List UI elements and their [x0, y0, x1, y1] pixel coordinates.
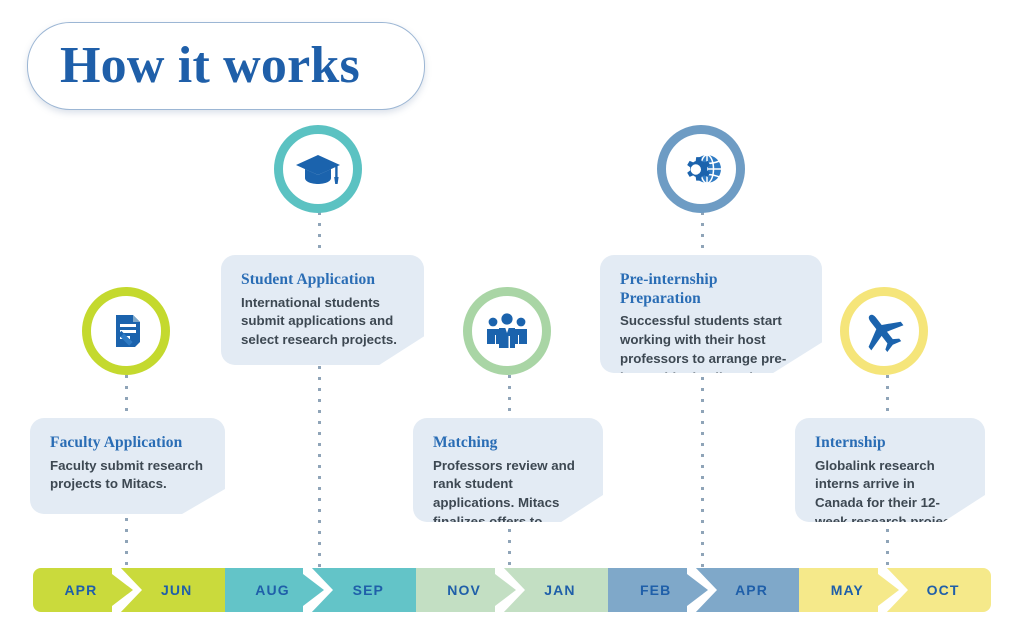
timeline-month-segment[interactable]: OCT — [895, 568, 991, 612]
page-title: How it works — [28, 40, 360, 92]
timeline-block: AUGSEP — [225, 568, 417, 612]
graduation-cap-icon — [294, 147, 342, 191]
timeline-month-segment[interactable]: FEB — [608, 568, 704, 612]
timeline-month-segment[interactable]: JAN — [512, 568, 608, 612]
step-card-faculty-application: Faculty Application Faculty submit resea… — [30, 418, 225, 514]
step-body: Faculty submit research projects to Mita… — [50, 457, 205, 495]
timeline-month-label: MAY — [831, 582, 864, 598]
timeline-month-label: APR — [735, 582, 768, 598]
timeline-month-label: NOV — [447, 582, 481, 598]
timeline-bar: APRJUNAUGSEPNOVJANFEBAPRMAYOCT — [33, 568, 991, 612]
step-body: Globalink research interns arrive in Can… — [815, 457, 965, 533]
step-title: Pre-internship Preparation — [620, 271, 802, 308]
timeline-month-label: OCT — [927, 582, 960, 598]
step-body: Successful students start working with t… — [620, 312, 802, 406]
gear-globe-icon — [677, 147, 725, 191]
page-title-box: How it works — [27, 22, 425, 110]
step-body: International students submit applicatio… — [241, 294, 404, 351]
step-card-pre-internship-preparation: Pre-internship Preparation Successful st… — [600, 255, 822, 373]
step-card-internship: Internship Globalink research interns ar… — [795, 418, 985, 522]
step-card-student-application: Student Application International studen… — [221, 255, 424, 365]
infographic-canvas: How it works Faculty Application Faculty… — [0, 0, 1024, 633]
timeline-month-segment[interactable]: MAY — [799, 568, 895, 612]
step-icon-internship — [840, 287, 928, 375]
step-icon-pre-internship-preparation — [657, 125, 745, 213]
step-icon-student-application — [274, 125, 362, 213]
step-title: Faculty Application — [50, 434, 205, 453]
timeline-block: MAYOCT — [799, 568, 991, 612]
timeline-month-label: AUG — [255, 582, 289, 598]
timeline-block: FEBAPR — [608, 568, 800, 612]
timeline-block: NOVJAN — [416, 568, 608, 612]
timeline-block: APRJUN — [33, 568, 225, 612]
document-pen-icon — [104, 309, 148, 353]
step-title: Internship — [815, 434, 965, 453]
airplane-icon — [860, 308, 908, 354]
timeline-month-segment[interactable]: APR — [704, 568, 800, 612]
step-icon-matching — [463, 287, 551, 375]
timeline-month-segment[interactable]: AUG — [225, 568, 321, 612]
timeline-month-label: JUN — [161, 582, 192, 598]
timeline-month-segment[interactable]: SEP — [320, 568, 416, 612]
people-group-icon — [484, 309, 530, 353]
step-title: Student Application — [241, 271, 404, 290]
timeline-month-segment[interactable]: APR — [33, 568, 129, 612]
timeline-month-label: SEP — [353, 582, 384, 598]
timeline-month-label: FEB — [640, 582, 671, 598]
timeline-month-label: APR — [64, 582, 97, 598]
timeline-month-label: JAN — [544, 582, 575, 598]
timeline-month-segment[interactable]: JUN — [129, 568, 225, 612]
step-title: Matching — [433, 434, 583, 453]
step-card-matching: Matching Professors review and rank stud… — [413, 418, 603, 522]
timeline-month-segment[interactable]: NOV — [416, 568, 512, 612]
step-icon-faculty-application — [82, 287, 170, 375]
